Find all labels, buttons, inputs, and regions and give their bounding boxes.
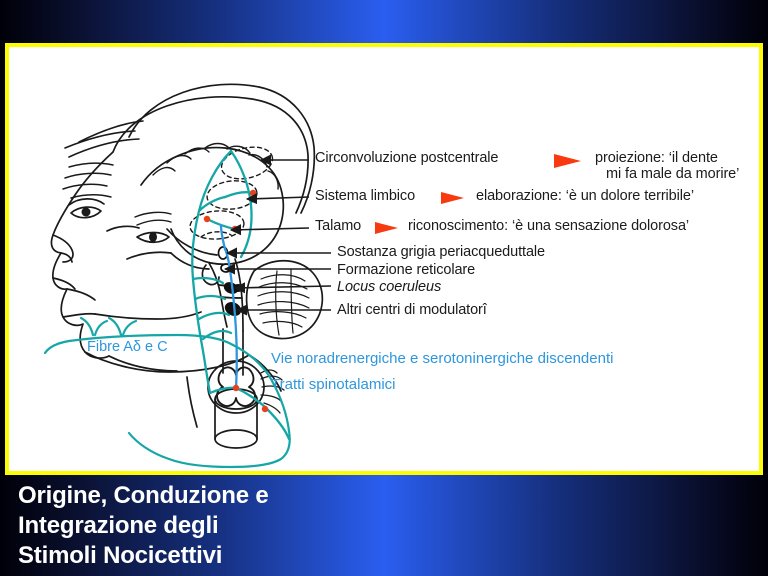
skull-inner-outline: [113, 97, 308, 213]
callout-interpretation-talamo: riconoscimento: ‘è una sensazione doloro…: [408, 219, 689, 234]
dashed-regions: [189, 142, 276, 241]
cerebrum-outline: [141, 148, 283, 265]
eyelid-crease: [69, 199, 104, 205]
far-brow: [135, 212, 171, 225]
callout-structure-limbic: Sistema limbico: [315, 189, 415, 204]
callout-interpretation-limbic: elaborazione: ‘è un dolore terribile’: [476, 189, 694, 204]
callout-structure-reticular-formation: Formazione reticolare: [337, 263, 475, 278]
callout-structure-locus-coeruleus: Locus coeruleus: [337, 280, 441, 295]
label-spinothalamic-tracts: Tratti spinotalamici: [271, 376, 395, 393]
cerebellar-folia: [258, 269, 309, 335]
leader-locus: [235, 286, 331, 288]
slide-title-line-1: Origine, Conduzione e: [18, 481, 518, 511]
cerebellum-outline: [247, 261, 323, 339]
callout-structure-other-modulatory-centres: Altri centri di modulatorî: [337, 303, 487, 318]
face-profile: [51, 152, 113, 358]
label-descending-pathways: Vie noradrenergiche e serotoninergiche d…: [271, 350, 613, 367]
leader-limbic: [247, 197, 309, 199]
callout-interpretation-postcentral-line2: mi fa male da morire’: [606, 167, 739, 182]
descending-noradrenergic-pathway: [192, 151, 289, 439]
slide-title-line-3: Stimoli Nocicettivi: [18, 541, 518, 571]
red-arrow-icon-limbic: [441, 192, 464, 204]
upper-lip: [53, 278, 75, 289]
leader-talamo: [231, 228, 309, 230]
slide-title-line-2: Integrazione degli: [18, 511, 518, 541]
neck-front: [187, 377, 197, 427]
cord-cyl-bottom: [215, 430, 257, 448]
far-cheek-crease: [127, 252, 171, 259]
brow-wrinkles: [63, 163, 113, 198]
pupil: [82, 208, 91, 217]
cheek-crease: [107, 226, 139, 231]
callout-structure-postcentral: Circonvoluzione postcentrale: [315, 151, 498, 166]
slide-title: Origine, Conduzione e Integrazione degli…: [18, 481, 518, 571]
mouth-line: [63, 314, 95, 317]
label-fibre-a-delta-c: Fibre Aδ e C: [87, 339, 168, 355]
region-thalamus-inner: [201, 232, 231, 237]
callout-structure-pag: Sostanza grigia periacqueduttale: [337, 245, 545, 260]
content-frame: Circonvoluzione postcentrale proiezione:…: [5, 43, 763, 475]
diagram-canvas: Circonvoluzione postcentrale proiezione:…: [9, 47, 759, 471]
scalp-outline: [129, 84, 314, 213]
gyri-folds: [153, 144, 278, 190]
callout-interpretation-postcentral-line1: proiezione: ‘il dente: [595, 151, 718, 166]
jaw-inner-edge: [109, 356, 177, 371]
slide-root: Circonvoluzione postcentrale proiezione:…: [0, 0, 768, 576]
far-pupil: [149, 232, 157, 242]
lower-lip: [67, 289, 95, 300]
callout-structure-talamo: Talamo: [315, 219, 361, 234]
red-arrow-icon-postcentral: [554, 154, 581, 168]
red-arrow-icon-talamo: [375, 222, 398, 234]
